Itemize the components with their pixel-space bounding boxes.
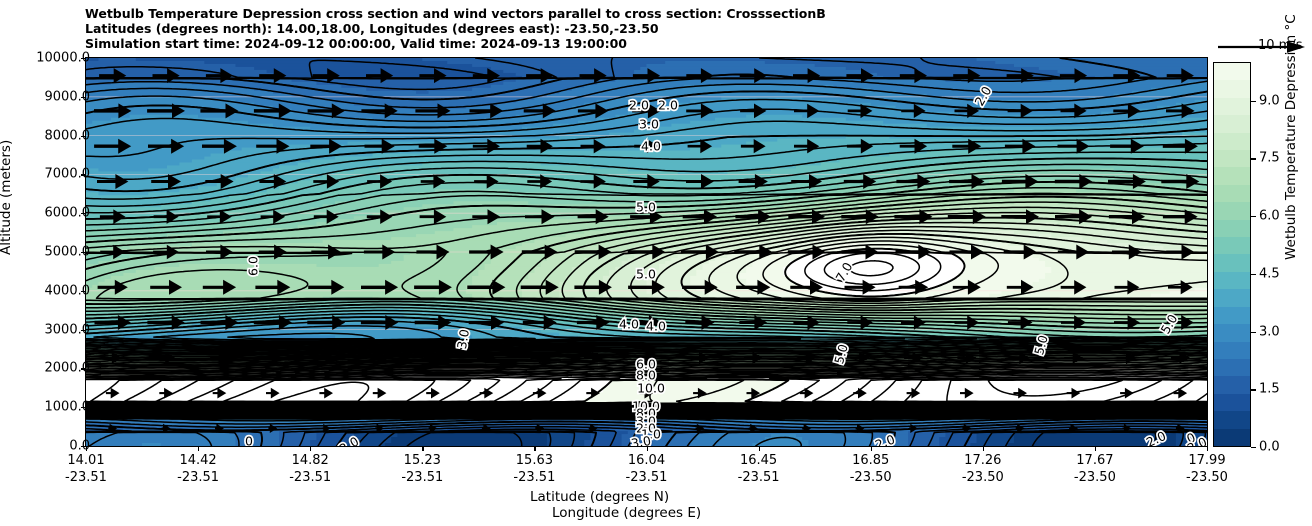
contour-label: 0 xyxy=(245,434,253,447)
x-tick-latitude: 14.01 xyxy=(65,453,107,470)
x-tick-latitude: 15.23 xyxy=(401,453,443,470)
x-tick-latitude: 14.82 xyxy=(289,453,331,470)
y-tick-label: 10000.0 xyxy=(36,51,90,66)
x-tick-mark xyxy=(871,447,872,451)
y-axis-label: Altitude (meters) xyxy=(0,140,14,255)
x-tick-label: 16.85-23.50 xyxy=(850,453,892,486)
x-tick-label: 16.45-23.51 xyxy=(738,453,780,486)
x-tick-mark xyxy=(198,447,199,451)
x-tick-label: 14.42-23.51 xyxy=(177,453,219,486)
y-tick-label: 3000.0 xyxy=(45,322,91,337)
x-tick-latitude: 17.26 xyxy=(962,453,1004,470)
colorbar-tick-label: 4.5 xyxy=(1259,266,1280,281)
contour-label: 5.0 xyxy=(636,267,656,282)
colorbar-tick-mark xyxy=(1251,332,1256,333)
x-tick-label: 16.04-23.51 xyxy=(626,453,668,486)
x-tick-longitude: -23.50 xyxy=(1186,470,1228,487)
colorbar-tick-mark xyxy=(1251,447,1256,448)
colorbar-segment xyxy=(1214,411,1250,428)
colorbar-segment xyxy=(1214,289,1250,306)
colorbar-segment xyxy=(1214,324,1250,341)
x-tick-mark xyxy=(759,447,760,451)
x-tick-longitude: -23.50 xyxy=(850,470,892,487)
y-tick-label: 5000.0 xyxy=(45,245,91,260)
figure-title: Wetbulb Temperature Depression cross sec… xyxy=(85,6,1085,52)
colorbar-segment xyxy=(1214,133,1250,150)
contour-label: 10.0 xyxy=(637,381,665,396)
colorbar-segment xyxy=(1214,202,1250,219)
contour-label: 3.0 xyxy=(630,433,652,446)
colorbar-segment xyxy=(1214,98,1250,115)
title-line-3: Simulation start time: 2024-09-12 00:00:… xyxy=(85,36,1085,51)
colorbar-segment xyxy=(1214,394,1250,411)
colorbar-tick-mark xyxy=(1251,274,1256,275)
y-tick-label: 0.0 xyxy=(69,439,90,454)
colorbar-tick-label: 9.0 xyxy=(1259,93,1280,108)
x-tick-latitude: 17.99 xyxy=(1186,453,1228,470)
x-tick-latitude: 16.45 xyxy=(738,453,780,470)
x-tick-mark xyxy=(422,447,423,451)
contour-label: 4.0 xyxy=(619,317,639,332)
colorbar-tick-label: 6.0 xyxy=(1259,209,1280,224)
x-tick-label: 14.82-23.51 xyxy=(289,453,331,486)
colorbar-segment xyxy=(1214,359,1250,376)
x-tick-label: 17.99-23.50 xyxy=(1186,453,1228,486)
colorbar-segment xyxy=(1214,150,1250,167)
x-tick-mark xyxy=(983,447,984,451)
x-tick-mark xyxy=(534,447,535,451)
colorbar-tick-mark xyxy=(1251,101,1256,102)
x-tick-label: 15.23-23.51 xyxy=(401,453,443,486)
colorbar-tick-label: 1.5 xyxy=(1259,382,1280,397)
x-tick-longitude: -23.51 xyxy=(177,470,219,487)
x-tick-mark xyxy=(86,447,87,451)
colorbar-segment xyxy=(1214,307,1250,324)
y-tick-label: 2000.0 xyxy=(45,361,91,376)
x-tick-latitude: 14.42 xyxy=(177,453,219,470)
y-tick-label: 4000.0 xyxy=(45,283,91,298)
x-tick-label: 17.67-23.50 xyxy=(1074,453,1116,486)
y-tick-label: 1000.0 xyxy=(45,400,91,415)
colorbar-tick-label: 7.5 xyxy=(1259,151,1280,166)
x-tick-longitude: -23.51 xyxy=(289,470,331,487)
x-tick-longitude: -23.51 xyxy=(513,470,555,487)
x-tick-latitude: 16.04 xyxy=(626,453,668,470)
colorbar-segment xyxy=(1214,185,1250,202)
x-tick-latitude: 16.85 xyxy=(850,453,892,470)
x-axis-label-longitude: Longitude (degrees E) xyxy=(552,505,701,521)
colorbar-segment xyxy=(1214,237,1250,254)
colorbar-segment xyxy=(1214,429,1250,446)
colorbar-segment xyxy=(1214,63,1250,80)
colorbar-segment xyxy=(1214,115,1250,132)
contour-label: 2.0 xyxy=(658,98,678,113)
colorbar-segment xyxy=(1214,272,1250,289)
colorbar-tick-mark xyxy=(1251,216,1256,217)
colorbar-tick-mark xyxy=(1251,158,1256,159)
x-tick-latitude: 15.63 xyxy=(513,453,555,470)
y-tick-label: 9000.0 xyxy=(45,89,91,104)
colorbar xyxy=(1213,62,1251,447)
contour-label: 4.0 xyxy=(646,319,666,334)
x-tick-longitude: -23.51 xyxy=(401,470,443,487)
contour-canvas: 2.02.03.04.05.05.06.02.07.05.05.05.03.04… xyxy=(86,58,1207,446)
x-tick-latitude: 17.67 xyxy=(1074,453,1116,470)
contour-label: 6.0 xyxy=(246,256,261,276)
colorbar-segment xyxy=(1214,342,1250,359)
cross-section-plot: 2.02.03.04.05.05.06.02.07.05.05.05.03.04… xyxy=(85,57,1208,447)
x-tick-longitude: -23.51 xyxy=(65,470,107,487)
x-tick-longitude: -23.50 xyxy=(1074,470,1116,487)
contour-label: 5.0 xyxy=(636,200,656,215)
x-tick-mark xyxy=(310,447,311,451)
contour-label: 2.0 xyxy=(629,98,649,113)
contour-label: 3.0 xyxy=(639,117,659,132)
quiver-key-label: 10 m/s xyxy=(1258,38,1303,53)
colorbar-segment xyxy=(1214,220,1250,237)
y-tick-label: 6000.0 xyxy=(45,206,91,221)
x-tick-mark xyxy=(647,447,648,451)
x-tick-mark xyxy=(1095,447,1096,451)
title-line-2: Latitudes (degrees north): 14.00,18.00, … xyxy=(85,21,1085,36)
colorbar-segment xyxy=(1214,376,1250,393)
colorbar-tick-label: 3.0 xyxy=(1259,324,1280,339)
x-tick-mark xyxy=(1207,447,1208,451)
figure-root: Wetbulb Temperature Depression cross sec… xyxy=(0,0,1312,526)
colorbar-segment xyxy=(1214,167,1250,184)
x-tick-longitude: -23.50 xyxy=(962,470,1004,487)
colorbar-segment xyxy=(1214,254,1250,271)
x-tick-longitude: -23.51 xyxy=(626,470,668,487)
colorbar-segment xyxy=(1214,80,1250,97)
y-tick-label: 7000.0 xyxy=(45,167,91,182)
contour-label: 4.0 xyxy=(641,139,661,154)
x-tick-label: 14.01-23.51 xyxy=(65,453,107,486)
title-line-1: Wetbulb Temperature Depression cross sec… xyxy=(85,6,1085,21)
x-axis-label-latitude: Latitude (degrees N) xyxy=(530,489,669,505)
x-tick-longitude: -23.51 xyxy=(738,470,780,487)
y-tick-label: 8000.0 xyxy=(45,128,91,143)
x-tick-label: 15.63-23.51 xyxy=(513,453,555,486)
colorbar-tick-mark xyxy=(1251,389,1256,390)
x-tick-label: 17.26-23.50 xyxy=(962,453,1004,486)
colorbar-tick-label: 0.0 xyxy=(1259,440,1280,455)
